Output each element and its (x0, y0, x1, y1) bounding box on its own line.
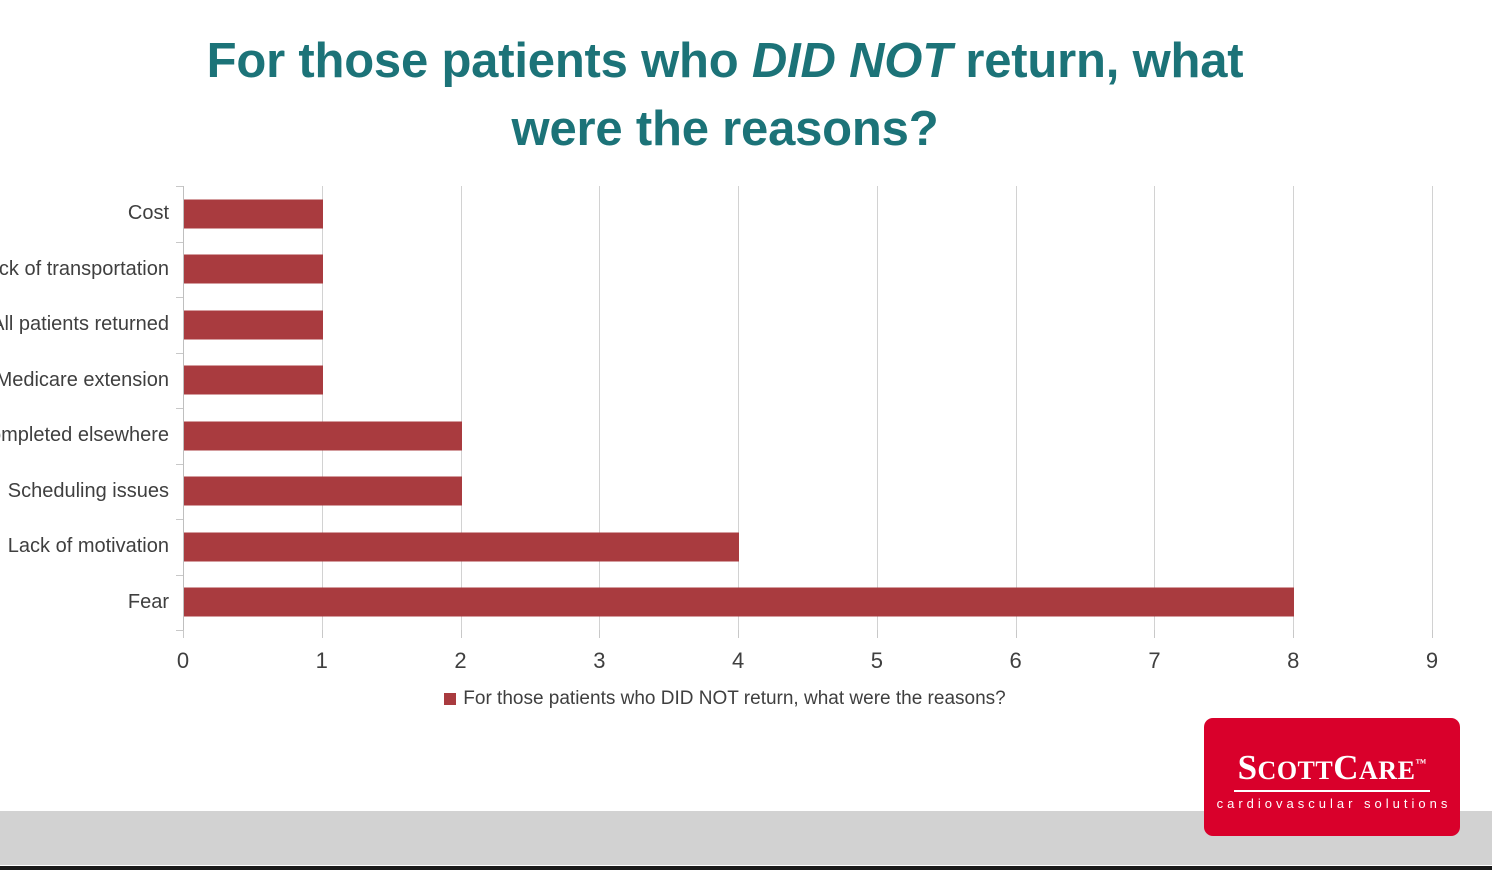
x-tick-label-7: 7 (1148, 648, 1160, 674)
x-tick-label-2: 2 (454, 648, 466, 674)
page-title: For those patients who DID NOT return, w… (150, 28, 1300, 163)
x-tick-label-3: 3 (593, 648, 605, 674)
bar-band-7 (183, 575, 1432, 631)
chart-bars (183, 186, 1432, 630)
y-tick-mark-0 (176, 186, 183, 187)
logo-wordmark: SCOTTCARE™ (1238, 750, 1427, 785)
x-axis-tick-labels: 0123456789 (0, 648, 1492, 682)
category-label-1: Lack of transportation (0, 242, 169, 298)
scottcare-logo: SCOTTCARE™ cardiovascular solutions (1204, 718, 1460, 836)
category-label-4: Completed elsewhere (0, 408, 169, 464)
bar-band-0 (183, 186, 1432, 242)
logo-letters-cott: COTT (1258, 756, 1334, 785)
y-tick-mark-6 (176, 519, 183, 520)
bar-band-1 (183, 242, 1432, 298)
y-tick-mark-1 (176, 242, 183, 243)
bar-chart: CostLack of transportationAll patients r… (0, 170, 1492, 710)
bar-band-6 (183, 519, 1432, 575)
x-tick-mark-5 (877, 630, 878, 638)
logo-inner: SCOTTCARE™ cardiovascular solutions (1204, 750, 1460, 811)
x-tick-label-1: 1 (316, 648, 328, 674)
bar-band-5 (183, 464, 1432, 520)
y-tick-mark-7 (176, 575, 183, 576)
bar-band-2 (183, 297, 1432, 353)
category-label-2: All patients returned (0, 297, 169, 353)
y-tick-mark-8 (176, 630, 183, 631)
category-label-7: Fear (0, 575, 169, 631)
bar-medicare-extension[interactable] (184, 366, 323, 395)
x-tick-mark-8 (1293, 630, 1294, 638)
category-label-0: Cost (0, 186, 169, 242)
slide-canvas: For those patients who DID NOT return, w… (0, 0, 1492, 871)
category-label-6: Lack of motivation (0, 519, 169, 575)
bar-fear[interactable] (184, 588, 1294, 617)
x-tick-label-5: 5 (871, 648, 883, 674)
y-axis-category-labels: CostLack of transportationAll patients r… (0, 186, 169, 630)
x-tick-mark-7 (1154, 630, 1155, 638)
logo-divider (1234, 790, 1430, 792)
legend-swatch-icon (444, 693, 456, 705)
bar-cost[interactable] (184, 199, 323, 228)
x-tick-label-4: 4 (732, 648, 744, 674)
footer-rule (0, 866, 1492, 870)
gridline-x-9 (1432, 186, 1433, 630)
chart-legend: For those patients who DID NOT return, w… (0, 688, 1450, 710)
category-label-3: Medicare extension (0, 353, 169, 409)
x-tick-mark-1 (322, 630, 323, 638)
x-tick-label-6: 6 (1010, 648, 1022, 674)
x-tick-mark-0 (183, 630, 184, 638)
x-tick-label-0: 0 (177, 648, 189, 674)
logo-tagline: cardiovascular solutions (1204, 796, 1460, 811)
bar-lack-of-motivation[interactable] (184, 532, 739, 561)
bar-band-4 (183, 408, 1432, 464)
x-tick-mark-6 (1016, 630, 1017, 638)
y-tick-mark-5 (176, 464, 183, 465)
logo-letter-s: S (1238, 748, 1258, 787)
category-label-5: Scheduling issues (0, 464, 169, 520)
page-title-emphasis: DID NOT (752, 34, 952, 88)
logo-letters-are: ARE (1359, 756, 1415, 785)
y-tick-mark-3 (176, 353, 183, 354)
x-tick-mark-9 (1432, 630, 1433, 638)
legend-label: For those patients who DID NOT return, w… (463, 688, 1005, 710)
y-tick-mark-2 (176, 297, 183, 298)
x-tick-mark-3 (599, 630, 600, 638)
page-title-part1: For those patients who (207, 34, 752, 88)
x-tick-mark-2 (461, 630, 462, 638)
bar-band-3 (183, 353, 1432, 409)
x-tick-mark-4 (738, 630, 739, 638)
bar-completed-elsewhere[interactable] (184, 421, 462, 450)
logo-letter-c: C (1333, 748, 1359, 787)
bar-lack-of-transportation[interactable] (184, 255, 323, 284)
bar-all-patients-returned[interactable] (184, 310, 323, 339)
x-tick-label-9: 9 (1426, 648, 1438, 674)
x-tick-label-8: 8 (1287, 648, 1299, 674)
trademark-icon: ™ (1415, 757, 1426, 769)
y-tick-mark-4 (176, 408, 183, 409)
bar-scheduling-issues[interactable] (184, 477, 462, 506)
